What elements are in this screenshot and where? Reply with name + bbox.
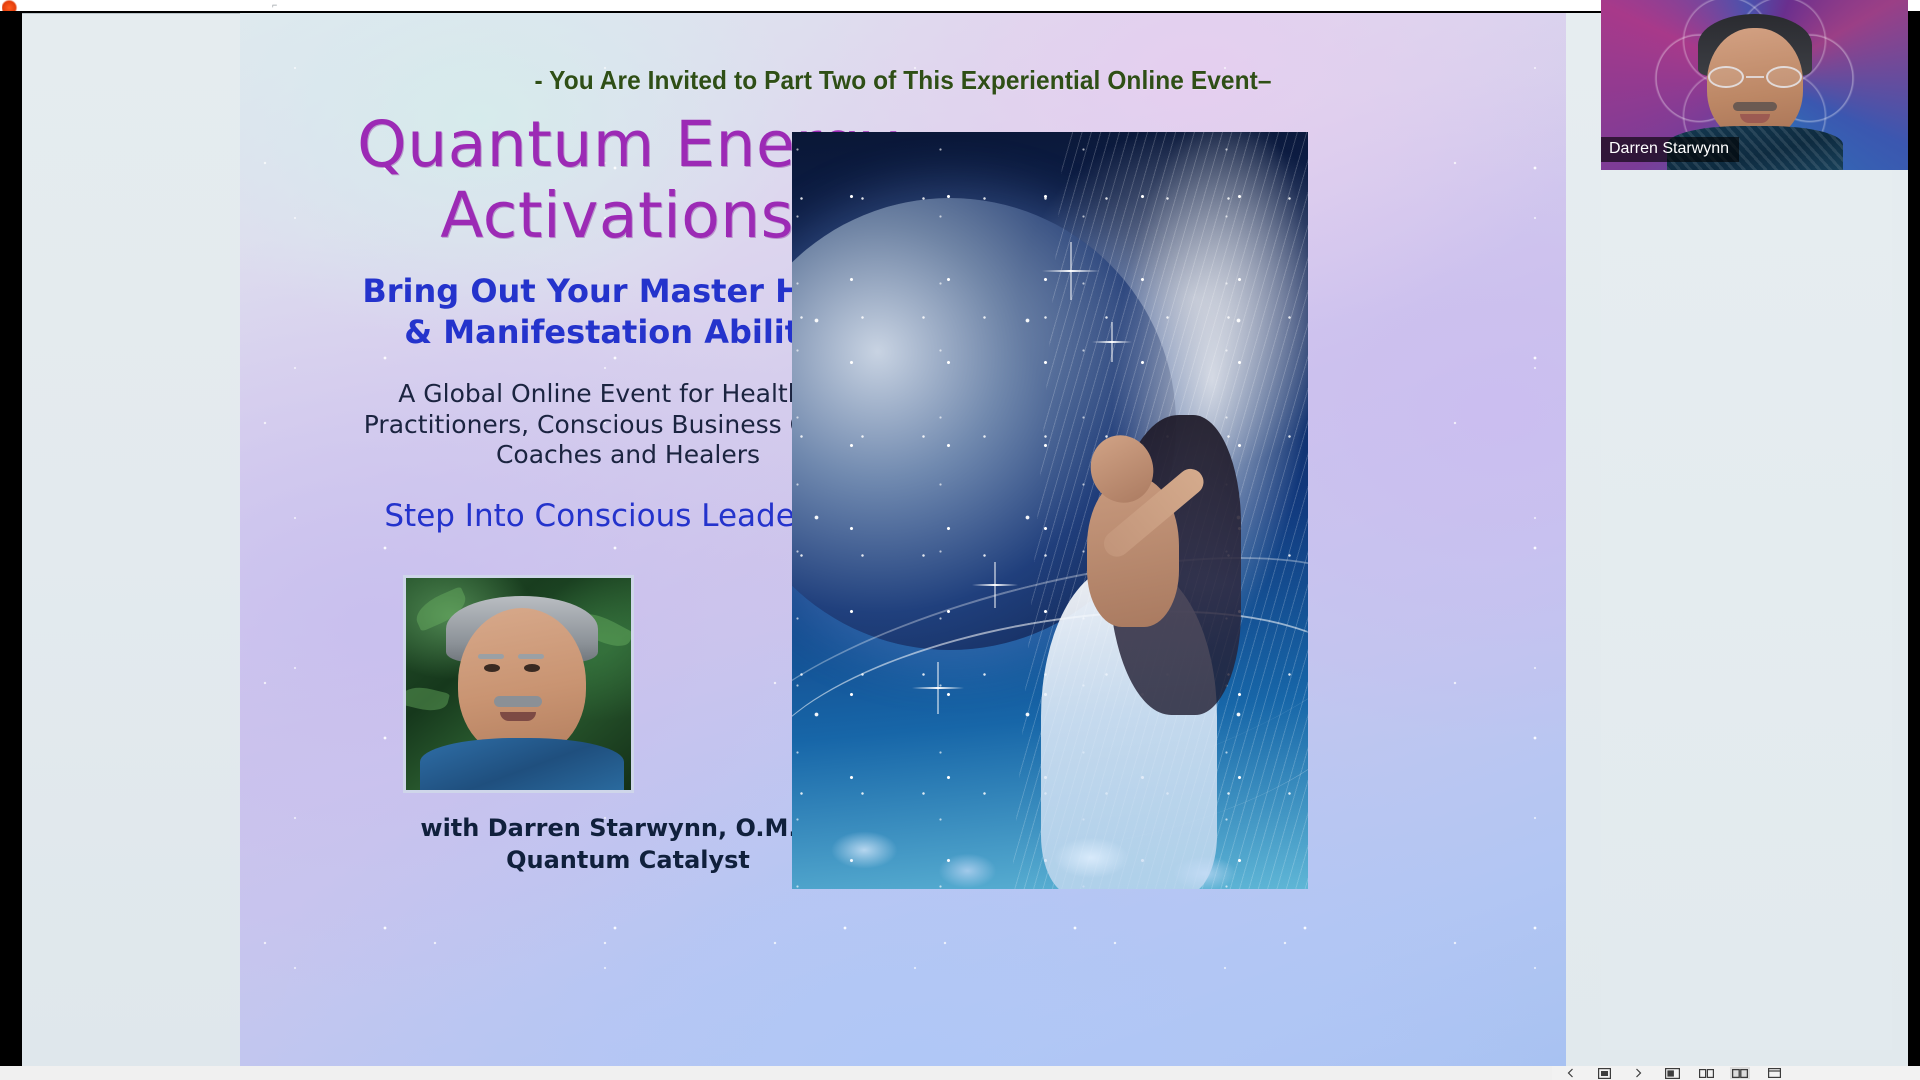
- full-screen-view-button[interactable]: [1764, 1067, 1784, 1079]
- app-logo-icon: [2, 0, 18, 11]
- right-gutter: [1908, 11, 1920, 1069]
- participant-name-label: Darren Starwynn: [1601, 137, 1739, 162]
- single-view-button[interactable]: [1594, 1067, 1614, 1079]
- video-tile-darren-starwynn[interactable]: Darren Starwynn: [1601, 0, 1908, 170]
- participant-mustache: [1733, 102, 1777, 111]
- headshot-face: [458, 608, 586, 758]
- presenter-view-button[interactable]: [1662, 1067, 1682, 1079]
- presentation-slide[interactable]: - You Are Invited to Part Two of This Ex…: [240, 13, 1566, 1066]
- slide-kicker-text: - You Are Invited to Part Two of This Ex…: [280, 65, 1526, 96]
- view-toolbar[interactable]: [1552, 1066, 1920, 1080]
- presenter-headshot-photo: [403, 575, 634, 793]
- app-window: ⌐ - You Are Invited to Part Two of This …: [0, 0, 1920, 1080]
- next-page-button[interactable]: [1628, 1067, 1648, 1079]
- gallery-view-button[interactable]: [1730, 1067, 1750, 1079]
- participants-empty-area: [1601, 170, 1892, 1050]
- top-strip-mark: ⌐: [272, 0, 282, 11]
- left-gutter: [0, 11, 22, 1069]
- artwork-crystals: [792, 759, 1308, 889]
- headshot-shirt: [420, 738, 624, 790]
- eyeglasses-icon: [1706, 66, 1804, 88]
- participant-mouth: [1740, 114, 1770, 123]
- bottom-filler: [0, 1066, 1552, 1080]
- headshot-mouth: [500, 712, 536, 721]
- headshot-mustache: [494, 696, 542, 707]
- previous-page-button[interactable]: [1560, 1067, 1580, 1079]
- slide-cosmic-artwork: [792, 132, 1308, 889]
- split-view-button[interactable]: [1696, 1067, 1716, 1079]
